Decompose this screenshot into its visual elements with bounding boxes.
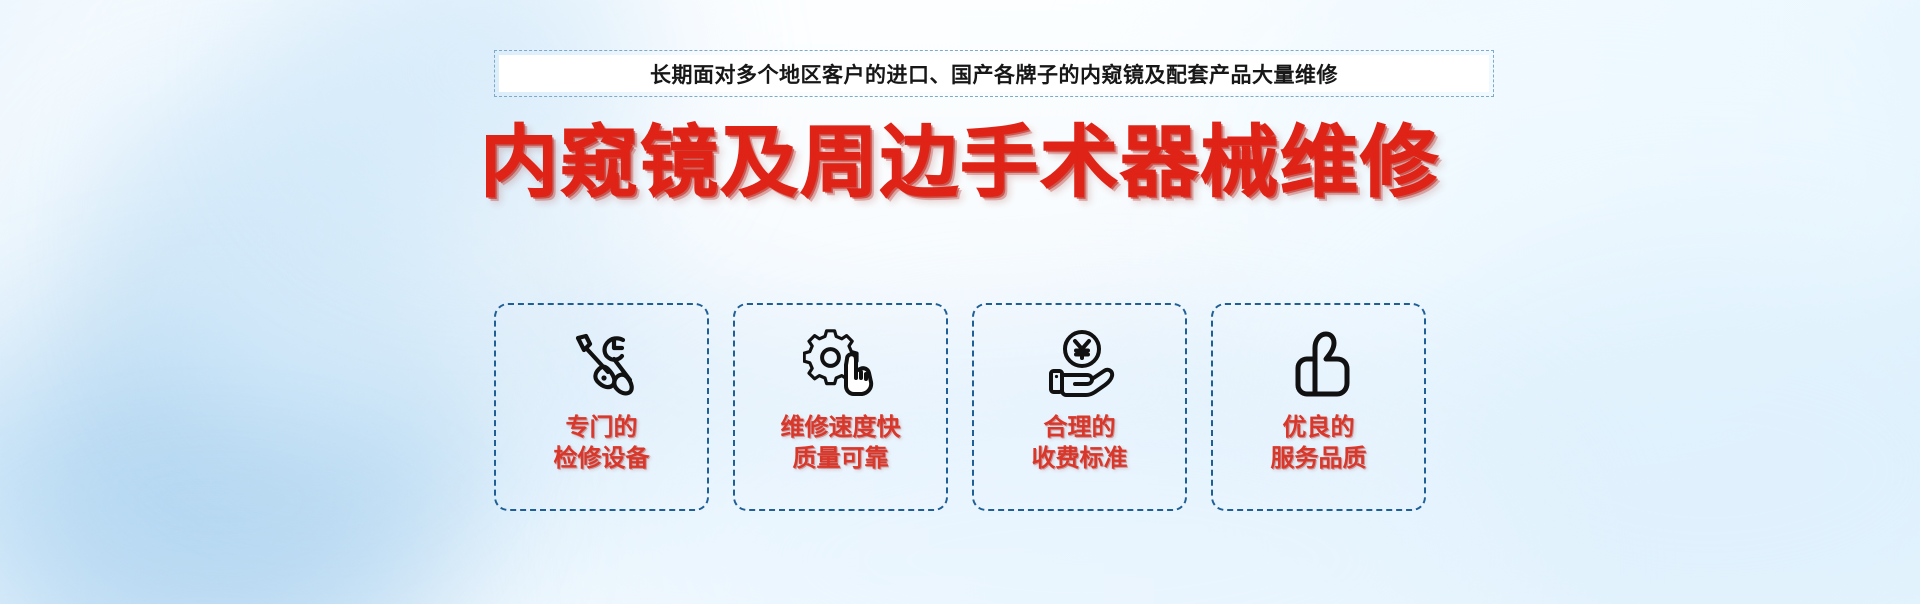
info-bar-text: 长期面对多个地区客户的进口、国产各牌子的内窥镜及配套产品大量维修 bbox=[650, 59, 1338, 89]
info-bar-inner: 长期面对多个地区客户的进口、国产各牌子的内窥镜及配套产品大量维修 bbox=[499, 55, 1489, 92]
feature-card-service[interactable]: 优良的 服务品质 bbox=[1211, 303, 1426, 511]
title-container: 内窥镜及周边手术器械维修 bbox=[0, 120, 1920, 206]
page-title: 内窥镜及周边手术器械维修 bbox=[480, 120, 1440, 206]
feature-card-list: 专门的 检修设备 维修速度快 质量可靠 bbox=[0, 303, 1920, 511]
feature-card-label: 合理的 收费标准 bbox=[1032, 413, 1128, 474]
feature-card-label: 专门的 检修设备 bbox=[554, 413, 650, 474]
feature-card-equipment[interactable]: 专门的 检修设备 bbox=[494, 303, 709, 511]
feature-card-label-line2: 检修设备 bbox=[554, 444, 650, 475]
info-bar: 长期面对多个地区客户的进口、国产各牌子的内窥镜及配套产品大量维修 bbox=[494, 50, 1494, 97]
feature-card-label-line2: 质量可靠 bbox=[781, 444, 901, 475]
feature-card-label-line1: 优良的 bbox=[1271, 413, 1367, 444]
feature-card-label: 优良的 服务品质 bbox=[1271, 413, 1367, 474]
feature-card-label-line2: 收费标准 bbox=[1032, 444, 1128, 475]
thumbs-up-icon bbox=[1280, 327, 1358, 401]
banner-content: 长期面对多个地区客户的进口、国产各牌子的内窥镜及配套产品大量维修 内窥镜及周边手… bbox=[0, 0, 1920, 604]
gear-click-icon bbox=[802, 327, 880, 401]
yen-coin-hand-icon bbox=[1041, 327, 1119, 401]
feature-card-label-line1: 专门的 bbox=[554, 413, 650, 444]
feature-card-label: 维修速度快 质量可靠 bbox=[781, 413, 901, 474]
feature-card-label-line1: 合理的 bbox=[1032, 413, 1128, 444]
screwdriver-wrench-icon bbox=[563, 327, 641, 401]
feature-card-label-line2: 服务品质 bbox=[1271, 444, 1367, 475]
feature-card-label-line1: 维修速度快 bbox=[781, 413, 901, 444]
feature-card-price[interactable]: 合理的 收费标准 bbox=[972, 303, 1187, 511]
feature-card-speed[interactable]: 维修速度快 质量可靠 bbox=[733, 303, 948, 511]
